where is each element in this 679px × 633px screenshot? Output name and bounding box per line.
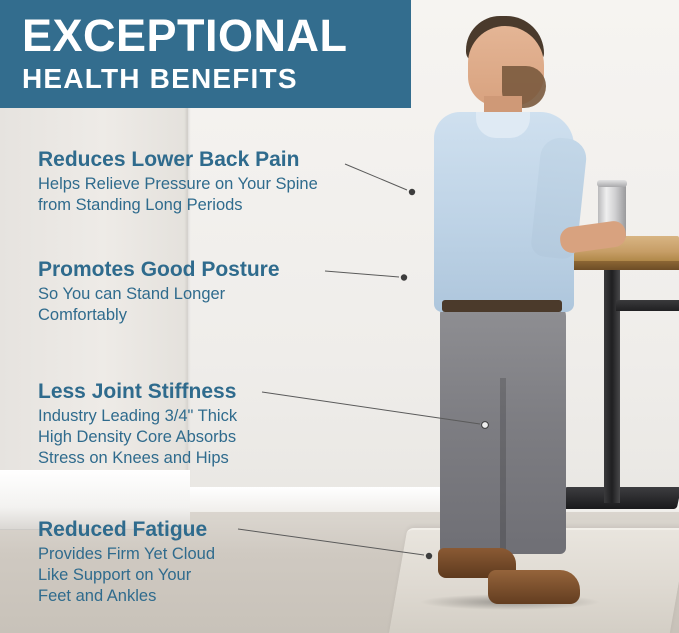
benefit-body-line: from Standing Long Periods	[38, 195, 318, 216]
leader-line-4	[238, 527, 468, 561]
belt	[442, 300, 562, 312]
benefit-title-3: Less Joint Stiffness	[38, 380, 237, 404]
header-banner: EXCEPTIONAL HEALTH BENEFITS	[0, 0, 411, 108]
benefit-callout-3: Less Joint Stiffness Industry Leading 3/…	[38, 380, 237, 470]
benefit-body-line: Industry Leading 3/4" Thick	[38, 406, 237, 427]
leader-line-1	[345, 160, 435, 200]
benefit-body-line: Feet and Ankles	[38, 586, 215, 607]
benefit-callout-4: Reduced Fatigue Provides Firm Yet Cloud …	[38, 518, 215, 608]
person-standing	[410, 8, 640, 608]
benefit-body-3: Industry Leading 3/4" Thick High Density…	[38, 406, 237, 470]
infographic-image: EXCEPTIONAL HEALTH BENEFITS Reduces Lowe…	[0, 0, 679, 633]
benefit-body-line: So You can Stand Longer	[38, 284, 280, 305]
benefit-body-line: Like Support on Your	[38, 565, 215, 586]
banner-subheadline: HEALTH BENEFITS	[22, 62, 411, 96]
benefit-body-line: Comfortably	[38, 305, 280, 326]
benefit-body-line: Helps Relieve Pressure on Your Spine	[38, 174, 318, 195]
benefit-body-1: Helps Relieve Pressure on Your Spine fro…	[38, 174, 318, 217]
leader-line-3	[262, 390, 502, 436]
benefit-title-2: Promotes Good Posture	[38, 258, 280, 282]
benefit-body-line: High Density Core Absorbs	[38, 427, 237, 448]
shoe-front	[488, 570, 580, 604]
benefit-title-1: Reduces Lower Back Pain	[38, 148, 318, 172]
benefit-callout-2: Promotes Good Posture So You can Stand L…	[38, 258, 280, 326]
benefit-body-2: So You can Stand Longer Comfortably	[38, 284, 280, 327]
benefit-body-line: Provides Firm Yet Cloud	[38, 544, 215, 565]
benefit-body-4: Provides Firm Yet Cloud Like Support on …	[38, 544, 215, 608]
benefit-body-line: Stress on Knees and Hips	[38, 448, 237, 469]
benefit-title-4: Reduced Fatigue	[38, 518, 215, 542]
leader-line-2	[325, 268, 425, 288]
benefit-callout-1: Reduces Lower Back Pain Helps Relieve Pr…	[38, 148, 318, 216]
banner-headline: EXCEPTIONAL	[22, 13, 411, 59]
